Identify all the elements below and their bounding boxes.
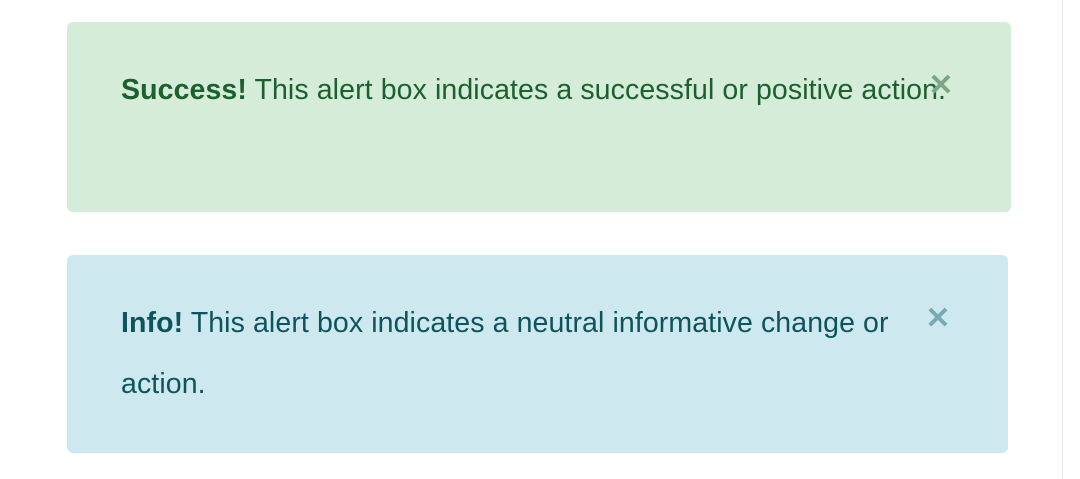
alert-info-strong-label: Info!	[121, 307, 183, 339]
close-icon-glyph: ✕	[928, 71, 953, 101]
alert-info-text: Info! This alert box indicates a neutral…	[121, 293, 948, 415]
alert-info-message: This alert box indicates a neutral infor…	[121, 307, 889, 400]
alert-stack: Success! This alert box indicates a succ…	[67, 22, 1011, 453]
alert-success-text: Success! This alert box indicates a succ…	[121, 60, 951, 121]
alert-success-message: This alert box indicates a successful or…	[247, 74, 946, 106]
close-icon-info[interactable]: ✕	[923, 305, 953, 335]
alert-success: Success! This alert box indicates a succ…	[67, 22, 1011, 212]
page-root: Success! This alert box indicates a succ…	[0, 0, 1080, 479]
scrollbar-track-divider	[1062, 0, 1063, 479]
close-icon-success[interactable]: ✕	[926, 72, 956, 102]
close-icon-glyph: ✕	[925, 304, 950, 334]
alert-info: Info! This alert box indicates a neutral…	[67, 255, 1008, 453]
alert-success-strong-label: Success!	[121, 74, 247, 106]
